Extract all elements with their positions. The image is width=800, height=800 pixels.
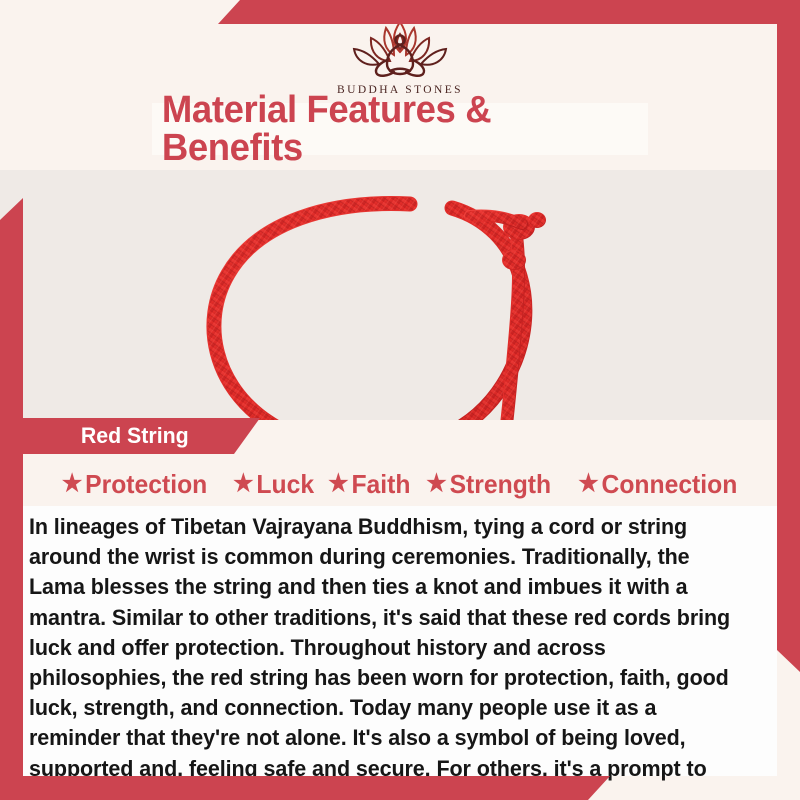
star-icon: ★: [579, 472, 599, 496]
frame-accent-bottom: [0, 776, 610, 800]
benefit-strength: ★ Strength: [426, 469, 551, 500]
brand-logo: BUDDHA STONES: [0, 14, 800, 96]
star-icon: ★: [426, 472, 446, 496]
page-title: Material Features & Benefits: [162, 91, 638, 167]
star-icon: ★: [329, 472, 349, 496]
benefit-luck: ★ Luck: [233, 469, 314, 500]
benefit-faith: ★ Faith: [329, 469, 411, 500]
frame-accent-right: [777, 0, 800, 672]
red-string-bracelet-illustration: [0, 170, 800, 420]
frame-accent-left: [0, 198, 23, 800]
star-icon: ★: [233, 472, 253, 496]
benefit-protection: ★ Protection: [62, 469, 207, 500]
description-panel: In lineages of Tibetan Vajrayana Buddhis…: [23, 506, 777, 776]
benefits-row: ★ Protection ★ Luck ★ Faith ★ Strength ★…: [0, 460, 800, 508]
infographic-page: BUDDHA STONES Material Features & Benefi…: [0, 0, 800, 800]
benefit-label: Faith: [352, 469, 411, 500]
benefit-label: Luck: [257, 469, 315, 500]
frame-accent-top: [218, 0, 800, 24]
product-photo: [0, 170, 800, 420]
description-text: In lineages of Tibetan Vajrayana Buddhis…: [29, 512, 739, 800]
title-band: Material Features & Benefits: [152, 103, 648, 155]
page-header: BUDDHA STONES Material Features & Benefi…: [0, 0, 800, 170]
material-ribbon: Red String: [23, 418, 260, 454]
star-icon: ★: [62, 472, 82, 496]
benefit-connection: ★ Connection: [579, 469, 738, 500]
benefit-label: Connection: [602, 469, 738, 500]
benefit-label: Protection: [85, 469, 207, 500]
benefit-label: Strength: [450, 469, 552, 500]
lotus-meditation-icon: [330, 14, 470, 82]
material-label: Red String: [26, 423, 189, 449]
